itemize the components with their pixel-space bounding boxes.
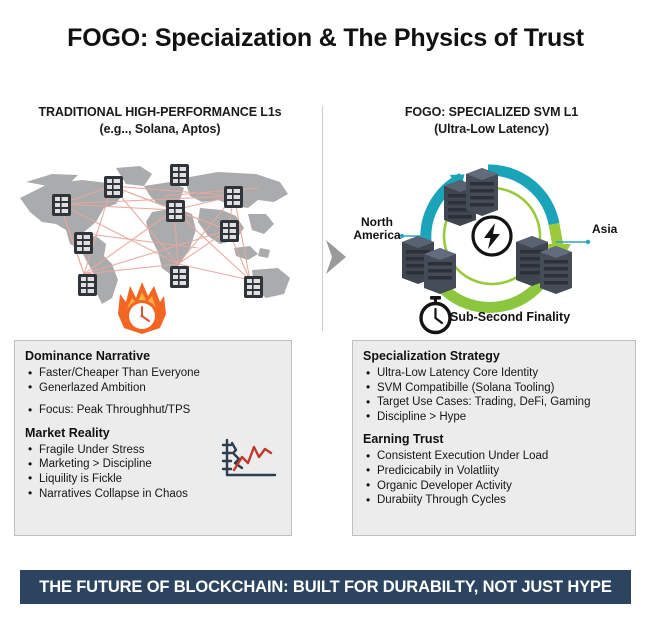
ring-illustration: North America Asia Sub-Second Finality [340,150,642,338]
left-content-box: Dominance Narrative Faster/Cheaper Than … [14,340,292,536]
infographic-page: FOGO: Speciaization & The Physics of Tru… [0,0,651,617]
label-sub-second-finality: Sub-Second Finality [450,310,570,324]
list-item: Predicicabily in Volatliity [363,464,625,479]
list-item: Narratives Collapse in Chaos [25,487,281,502]
right-heading-line2: (Ultra-Low Latency) [342,121,641,138]
left-heading-line2: (e.g.., Solana, Aptos) [10,121,310,138]
group-title-dominance-narrative: Dominance Narrative [25,349,281,364]
right-content-inner: Specialization Strategy Ultra-Low Latenc… [353,341,635,514]
bullet-list-earning-trust: Consistent Execution Under Load Predicic… [363,449,625,507]
bullet-list-specialization-strategy: Ultra-Low Latency Core Identity SVM Comp… [363,366,625,424]
right-column-heading: FOGO: SPECIALIZED SVM L1 (Ultra-Low Late… [342,104,641,138]
list-item: SVM Compatibille (Solana Tooling) [363,381,625,396]
left-column: TRADITIONAL HIGH-PERFORMANCE L1s (e.g..,… [10,104,310,138]
list-item: Ultra-Low Latency Core Identity [363,366,625,381]
group-title-specialization-strategy: Specialization Strategy [363,349,625,364]
list-item: Discipline > Hype [363,410,625,425]
bottom-banner: THE FUTURE OF BLOCKCHAIN: BUILT FOR DURA… [20,570,631,604]
bullet-list-dominance-narrative: Faster/Cheaper Than Everyone Generlazed … [25,366,281,418]
stopwatch-icon [421,296,450,333]
declining-trend-chart-icon [221,437,279,483]
world-map-svg [12,152,312,337]
list-item: Consistent Execution Under Load [363,449,625,464]
page-title: FOGO: Speciaization & The Physics of Tru… [0,24,651,53]
label-north-america: North America [346,216,408,242]
list-item: Organic Developer Activity [363,479,625,494]
world-map-illustration [12,152,312,337]
list-item: Focus: Peak Throughhut/TPS [25,403,281,418]
list-item: Faster/Cheaper Than Everyone [25,366,281,381]
list-item: Durabiity Through Cycles [363,493,625,508]
right-content-box: Specialization Strategy Ultra-Low Latenc… [352,340,636,536]
burning-clock-icon [118,282,166,334]
left-heading-line1: TRADITIONAL HIGH-PERFORMANCE L1s [10,104,310,121]
list-item: Generlazed Ambition [25,381,281,396]
label-asia: Asia [592,223,638,236]
group-title-earning-trust: Earning Trust [363,432,625,447]
server-stack-left [402,236,456,294]
lightning-bolt-core-icon [473,217,511,255]
label-north-america-line2: America [346,229,408,242]
right-column: FOGO: SPECIALIZED SVM L1 (Ultra-Low Late… [342,104,641,138]
bottom-banner-text: THE FUTURE OF BLOCKCHAIN: BUILT FOR DURA… [39,578,611,597]
left-column-heading: TRADITIONAL HIGH-PERFORMANCE L1s (e.g..,… [10,104,310,138]
list-item: Target Use Cases: Trading, DeFi, Gaming [363,395,625,410]
column-divider [322,106,323,331]
right-heading-line1: FOGO: SPECIALIZED SVM L1 [342,104,641,121]
